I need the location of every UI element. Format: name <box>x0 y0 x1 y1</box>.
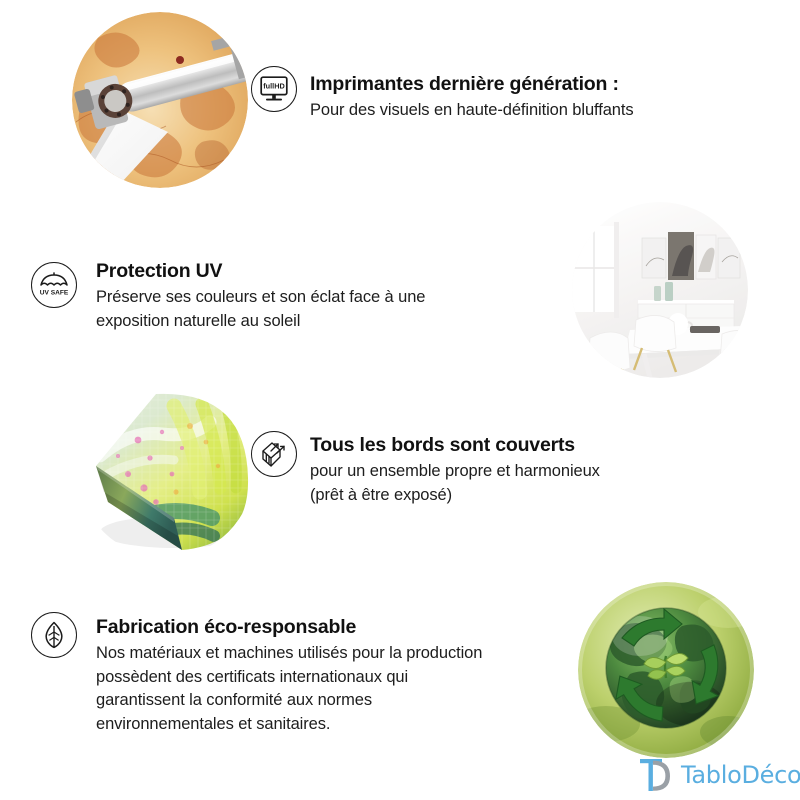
uv-safe-label: UV SAFE <box>40 290 69 297</box>
fullhd-label: fullHD <box>263 82 284 91</box>
desc-line: Pour des visuels en haute-définition blu… <box>310 99 633 122</box>
feature-printers-description: Pour des visuels en haute-définition blu… <box>310 99 633 122</box>
feature-eco-manufacturing-text: Fabrication éco-responsable Nos matériau… <box>96 616 482 736</box>
desc-line: (prêt à être exposé) <box>310 484 600 507</box>
feature-covered-edges-description: pour un ensemble propre et harmonieux (p… <box>310 460 600 507</box>
desc-line: exposition naturelle au soleil <box>96 310 425 333</box>
tablodeco-td-monogram <box>638 757 676 793</box>
leaf-eco-icon <box>31 612 77 658</box>
feature-covered-edges-text: Tous les bords sont couverts pour un ens… <box>310 434 600 507</box>
desc-line: garantissent la conformité aux normes <box>96 689 482 712</box>
umbrella-glyph: UV SAFE <box>38 270 70 300</box>
feature-uv-protection-text: Protection UV Préserve ses couleurs et s… <box>96 260 425 333</box>
feature-uv-protection-title: Protection UV <box>96 260 425 283</box>
eco-globe-recycling-photo <box>578 582 754 758</box>
uv-safe-umbrella-icon: UV SAFE <box>31 262 77 308</box>
canvas-wrap-edges-icon <box>251 431 297 477</box>
wordmark-text: TabloDéco <box>681 761 800 789</box>
feature-printers-title: Imprimantes dernière génération : <box>310 73 633 96</box>
desc-line: Nos matériaux et machines utilisés pour … <box>96 642 482 665</box>
desc-line: possèdent des certificats internationaux… <box>96 666 482 689</box>
tablodeco-logo[interactable]: TabloDéco TM .fr <box>638 757 800 793</box>
feature-eco-manufacturing-title: Fabrication éco-responsable <box>96 616 482 639</box>
monitor-glyph: fullHD <box>259 75 289 103</box>
leaf-glyph <box>40 620 68 650</box>
tablodeco-wordmark: TabloDéco TM <box>681 761 800 789</box>
living-room-canvas-photo <box>572 202 748 378</box>
feature-eco-manufacturing-description: Nos matériaux et machines utilisés pour … <box>96 642 482 736</box>
canvas-corner-closeup-photo <box>78 382 254 558</box>
desc-line: environnementales et sanitaires. <box>96 713 482 736</box>
desc-line: pour un ensemble propre et harmonieux <box>310 460 600 483</box>
infographic-page: fullHD Imprimantes dernière génération :… <box>0 0 800 800</box>
feature-printers-text: Imprimantes dernière génération : Pour d… <box>310 73 633 123</box>
desc-line: Préserve ses couleurs et son éclat face … <box>96 286 425 309</box>
feature-uv-protection-description: Préserve ses couleurs et son éclat face … <box>96 286 425 333</box>
printing-press-world-map-photo <box>72 12 248 188</box>
feature-covered-edges-title: Tous les bords sont couverts <box>310 434 600 457</box>
fullhd-monitor-icon: fullHD <box>251 66 297 112</box>
wrap-edges-glyph <box>258 439 290 469</box>
